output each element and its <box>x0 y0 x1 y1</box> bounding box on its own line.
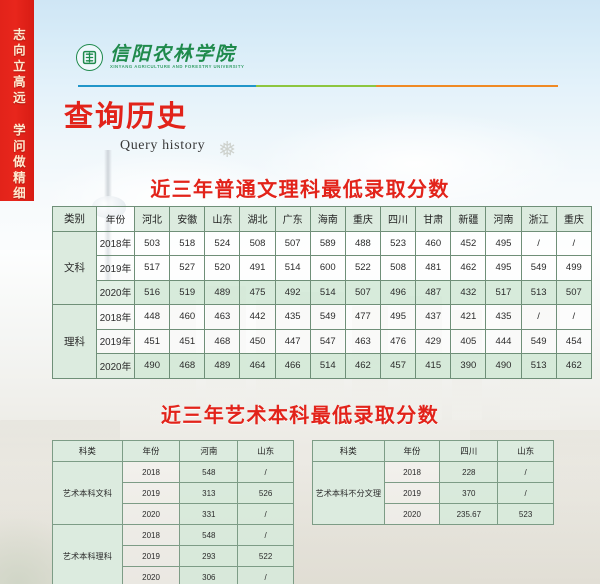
scores-value-cell: 496 <box>380 280 415 305</box>
art-year-cell: 2018 <box>384 462 440 483</box>
scores-value-cell: 488 <box>345 231 380 256</box>
scores-value-cell: / <box>556 231 591 256</box>
page-root: 志向立高远 学问做精细 信阳农林学院 XINYANG AGRICULTURE A… <box>0 0 600 584</box>
table-header-row: 科类年份四川山东 <box>313 441 554 462</box>
scores-value-cell: 519 <box>170 280 205 305</box>
scores-value-cell: 435 <box>275 305 310 330</box>
motto-banner: 志向立高远 学问做精细 <box>0 0 34 201</box>
art-value-cell: 526 <box>238 483 294 504</box>
art-scores-table-unified: 科类年份四川山东 艺术本科不分文理2018228/2019370/2020235… <box>312 440 554 525</box>
art-category-cell: 艺术本科理科 <box>53 525 123 584</box>
table-row: 文科2018年503518524508507589488523460452495… <box>53 231 592 256</box>
art-value-cell: 548 <box>180 525 238 546</box>
scores-table-body: 文科2018年503518524508507589488523460452495… <box>53 231 592 378</box>
scores-value-cell: 490 <box>486 354 521 379</box>
scores-value-cell: 549 <box>310 305 345 330</box>
scores-value-cell: 452 <box>451 231 486 256</box>
table-row: 2020年49046848946446651446245741539049051… <box>53 354 592 379</box>
divider-segment-green <box>256 85 376 87</box>
scores-value-cell: 462 <box>451 256 486 281</box>
scores-category-cell: 文科 <box>53 231 97 305</box>
art-value-cell: / <box>238 462 294 483</box>
art-unified-head: 科类年份四川山东 <box>313 441 554 462</box>
table-header-row: 科类年份河南山东 <box>53 441 294 462</box>
scores-value-cell: 451 <box>135 329 170 354</box>
art-col-header: 山东 <box>238 441 294 462</box>
scores-value-cell: 507 <box>345 280 380 305</box>
scores-value-cell: 495 <box>486 256 521 281</box>
scores-value-cell: 508 <box>380 256 415 281</box>
art-value-cell: / <box>498 483 554 504</box>
table-header-row: 类别年份河北安徽山东湖北广东海南重庆四川甘肃新疆河南浙江重庆 <box>53 207 592 232</box>
scores-value-cell: 468 <box>205 329 240 354</box>
logo-name-en: XINYANG AGRICULTURE AND FORESTRY UNIVERS… <box>110 65 244 69</box>
university-seal-icon <box>76 44 103 71</box>
scores-value-cell: 514 <box>310 280 345 305</box>
art-value-cell: 306 <box>180 567 238 584</box>
table-row: 艺术本科不分文理2018228/ <box>313 462 554 483</box>
scores-value-cell: 507 <box>556 280 591 305</box>
scores-value-cell: / <box>556 305 591 330</box>
scores-value-cell: 492 <box>275 280 310 305</box>
art-category-cell: 艺术本科文科 <box>53 462 123 525</box>
scores-value-cell: 468 <box>170 354 205 379</box>
scores-year-cell: 2020年 <box>97 280 135 305</box>
scores-value-cell: 447 <box>275 329 310 354</box>
scores-value-cell: 522 <box>345 256 380 281</box>
scores-table-head: 类别年份河北安徽山东湖北广东海南重庆四川甘肃新疆河南浙江重庆 <box>53 207 592 232</box>
scores-col-header: 四川 <box>380 207 415 232</box>
scores-value-cell: 549 <box>521 329 556 354</box>
art-col-header: 山东 <box>498 441 554 462</box>
art-year-cell: 2020 <box>384 504 440 525</box>
tricolor-divider <box>78 85 558 87</box>
scores-value-cell: 524 <box>205 231 240 256</box>
scores-value-cell: 499 <box>556 256 591 281</box>
scores-value-cell: 516 <box>135 280 170 305</box>
scores-value-cell: 421 <box>451 305 486 330</box>
scores-value-cell: 435 <box>486 305 521 330</box>
scores-value-cell: 495 <box>380 305 415 330</box>
scores-value-cell: 490 <box>135 354 170 379</box>
university-logo: 信阳农林学院 XINYANG AGRICULTURE AND FORESTRY … <box>76 44 244 71</box>
scores-col-header: 重庆 <box>345 207 380 232</box>
art-scores-table-wenli: 科类年份河南山东 艺术本科文科2018548/20193135262020331… <box>52 440 294 584</box>
art-year-cell: 2019 <box>384 483 440 504</box>
scores-value-cell: 518 <box>170 231 205 256</box>
scores-col-header: 河北 <box>135 207 170 232</box>
scores-value-cell: 527 <box>170 256 205 281</box>
art-col-header: 年份 <box>384 441 440 462</box>
scores-value-cell: 432 <box>451 280 486 305</box>
scores-value-cell: 489 <box>205 354 240 379</box>
scores-value-cell: 437 <box>416 305 451 330</box>
art-value-cell: / <box>238 525 294 546</box>
scores-value-cell: 466 <box>275 354 310 379</box>
scores-col-header: 广东 <box>275 207 310 232</box>
scores-value-cell: 442 <box>240 305 275 330</box>
art-value-cell: / <box>238 567 294 584</box>
scores-col-header: 新疆 <box>451 207 486 232</box>
section-heading-art: 近三年艺术本科最低录取分数 <box>0 406 600 426</box>
scores-value-cell: 463 <box>345 329 380 354</box>
page-title-cn: 查询历史 <box>64 103 205 132</box>
scores-category-cell: 理科 <box>53 305 97 379</box>
scores-value-cell: 514 <box>275 256 310 281</box>
art-year-cell: 2020 <box>122 504 180 525</box>
scores-value-cell: 405 <box>451 329 486 354</box>
scores-value-cell: 477 <box>345 305 380 330</box>
logo-name-cn: 信阳农林学院 <box>110 45 244 64</box>
scores-col-header: 重庆 <box>556 207 591 232</box>
scores-value-cell: 517 <box>135 256 170 281</box>
scores-col-header: 山东 <box>205 207 240 232</box>
art-value-cell: / <box>498 462 554 483</box>
scores-value-cell: 464 <box>240 354 275 379</box>
scores-value-cell: 481 <box>416 256 451 281</box>
art-year-cell: 2019 <box>122 546 180 567</box>
scores-value-cell: 523 <box>380 231 415 256</box>
art-year-cell: 2018 <box>122 462 180 483</box>
scores-value-cell: 508 <box>240 231 275 256</box>
art-category-cell: 艺术本科不分文理 <box>313 462 385 525</box>
table-row: 2020年51651948947549251450749648743251751… <box>53 280 592 305</box>
art-value-cell: 293 <box>180 546 238 567</box>
scores-value-cell: 517 <box>486 280 521 305</box>
scores-value-cell: 514 <box>310 354 345 379</box>
scores-table: 类别年份河北安徽山东湖北广东海南重庆四川甘肃新疆河南浙江重庆 文科2018年50… <box>52 206 592 379</box>
scores-value-cell: 475 <box>240 280 275 305</box>
scores-value-cell: / <box>521 305 556 330</box>
scores-value-cell: 491 <box>240 256 275 281</box>
scores-value-cell: 520 <box>205 256 240 281</box>
art-value-cell: 548 <box>180 462 238 483</box>
scores-value-cell: 487 <box>416 280 451 305</box>
table-row: 理科2018年448460463442435549477495437421435… <box>53 305 592 330</box>
scores-value-cell: 600 <box>310 256 345 281</box>
motto-text: 志向立高远 学问做精细 <box>10 28 24 201</box>
scores-value-cell: 429 <box>416 329 451 354</box>
art-value-cell: 523 <box>498 504 554 525</box>
table-row: 艺术本科文科2018548/ <box>53 462 294 483</box>
scores-year-cell: 2019年 <box>97 329 135 354</box>
scores-year-cell: 2020年 <box>97 354 135 379</box>
scores-value-cell: 462 <box>345 354 380 379</box>
scores-value-cell: 507 <box>275 231 310 256</box>
scores-value-cell: 454 <box>556 329 591 354</box>
art-value-cell: 370 <box>440 483 498 504</box>
art-unified-body: 艺术本科不分文理2018228/2019370/2020235.67523 <box>313 462 554 525</box>
art-col-header: 年份 <box>122 441 180 462</box>
scores-value-cell: 457 <box>380 354 415 379</box>
scores-value-cell: 450 <box>240 329 275 354</box>
scores-value-cell: / <box>521 231 556 256</box>
scores-value-cell: 503 <box>135 231 170 256</box>
scores-year-cell: 2018年 <box>97 305 135 330</box>
scores-value-cell: 460 <box>170 305 205 330</box>
scores-value-cell: 390 <box>451 354 486 379</box>
scores-value-cell: 549 <box>521 256 556 281</box>
art-col-header: 科类 <box>53 441 123 462</box>
scores-value-cell: 513 <box>521 280 556 305</box>
page-title: 查询历史 Query history <box>64 103 205 153</box>
art-year-cell: 2018 <box>122 525 180 546</box>
section-heading-scores: 近三年普通文理科最低录取分数 <box>0 180 600 200</box>
cloud-ornament-icon: ❅ <box>218 139 236 161</box>
scores-col-header: 甘肃 <box>416 207 451 232</box>
art-year-cell: 2020 <box>122 567 180 584</box>
scores-col-header: 湖北 <box>240 207 275 232</box>
scores-value-cell: 463 <box>205 305 240 330</box>
scores-value-cell: 547 <box>310 329 345 354</box>
scores-col-header: 河南 <box>486 207 521 232</box>
art-value-cell: / <box>238 504 294 525</box>
art-wenli-head: 科类年份河南山东 <box>53 441 294 462</box>
art-wenli-body: 艺术本科文科2018548/20193135262020331/艺术本科理科20… <box>53 462 294 584</box>
scores-year-cell: 2019年 <box>97 256 135 281</box>
scores-value-cell: 513 <box>521 354 556 379</box>
scores-value-cell: 415 <box>416 354 451 379</box>
art-value-cell: 235.67 <box>440 504 498 525</box>
scores-col-header: 浙江 <box>521 207 556 232</box>
scores-year-cell: 2018年 <box>97 231 135 256</box>
art-value-cell: 313 <box>180 483 238 504</box>
scores-value-cell: 476 <box>380 329 415 354</box>
art-year-cell: 2019 <box>122 483 180 504</box>
scores-value-cell: 451 <box>170 329 205 354</box>
scores-value-cell: 448 <box>135 305 170 330</box>
page-title-en: Query history <box>120 139 205 153</box>
table-row: 2019年51752752049151460052250848146249554… <box>53 256 592 281</box>
scores-col-header: 年份 <box>97 207 135 232</box>
art-value-cell: 228 <box>440 462 498 483</box>
divider-segment-blue <box>78 85 256 87</box>
table-row: 艺术本科理科2018548/ <box>53 525 294 546</box>
art-col-header: 河南 <box>180 441 238 462</box>
art-value-cell: 522 <box>238 546 294 567</box>
scores-value-cell: 589 <box>310 231 345 256</box>
scores-col-header: 类别 <box>53 207 97 232</box>
scores-value-cell: 460 <box>416 231 451 256</box>
scores-value-cell: 495 <box>486 231 521 256</box>
scores-value-cell: 444 <box>486 329 521 354</box>
scores-value-cell: 462 <box>556 354 591 379</box>
scores-value-cell: 489 <box>205 280 240 305</box>
table-row: 2019年45145146845044754746347642940544454… <box>53 329 592 354</box>
divider-segment-orange <box>376 85 558 87</box>
scores-col-header: 海南 <box>310 207 345 232</box>
art-value-cell: 331 <box>180 504 238 525</box>
art-col-header: 科类 <box>313 441 385 462</box>
art-col-header: 四川 <box>440 441 498 462</box>
scores-col-header: 安徽 <box>170 207 205 232</box>
